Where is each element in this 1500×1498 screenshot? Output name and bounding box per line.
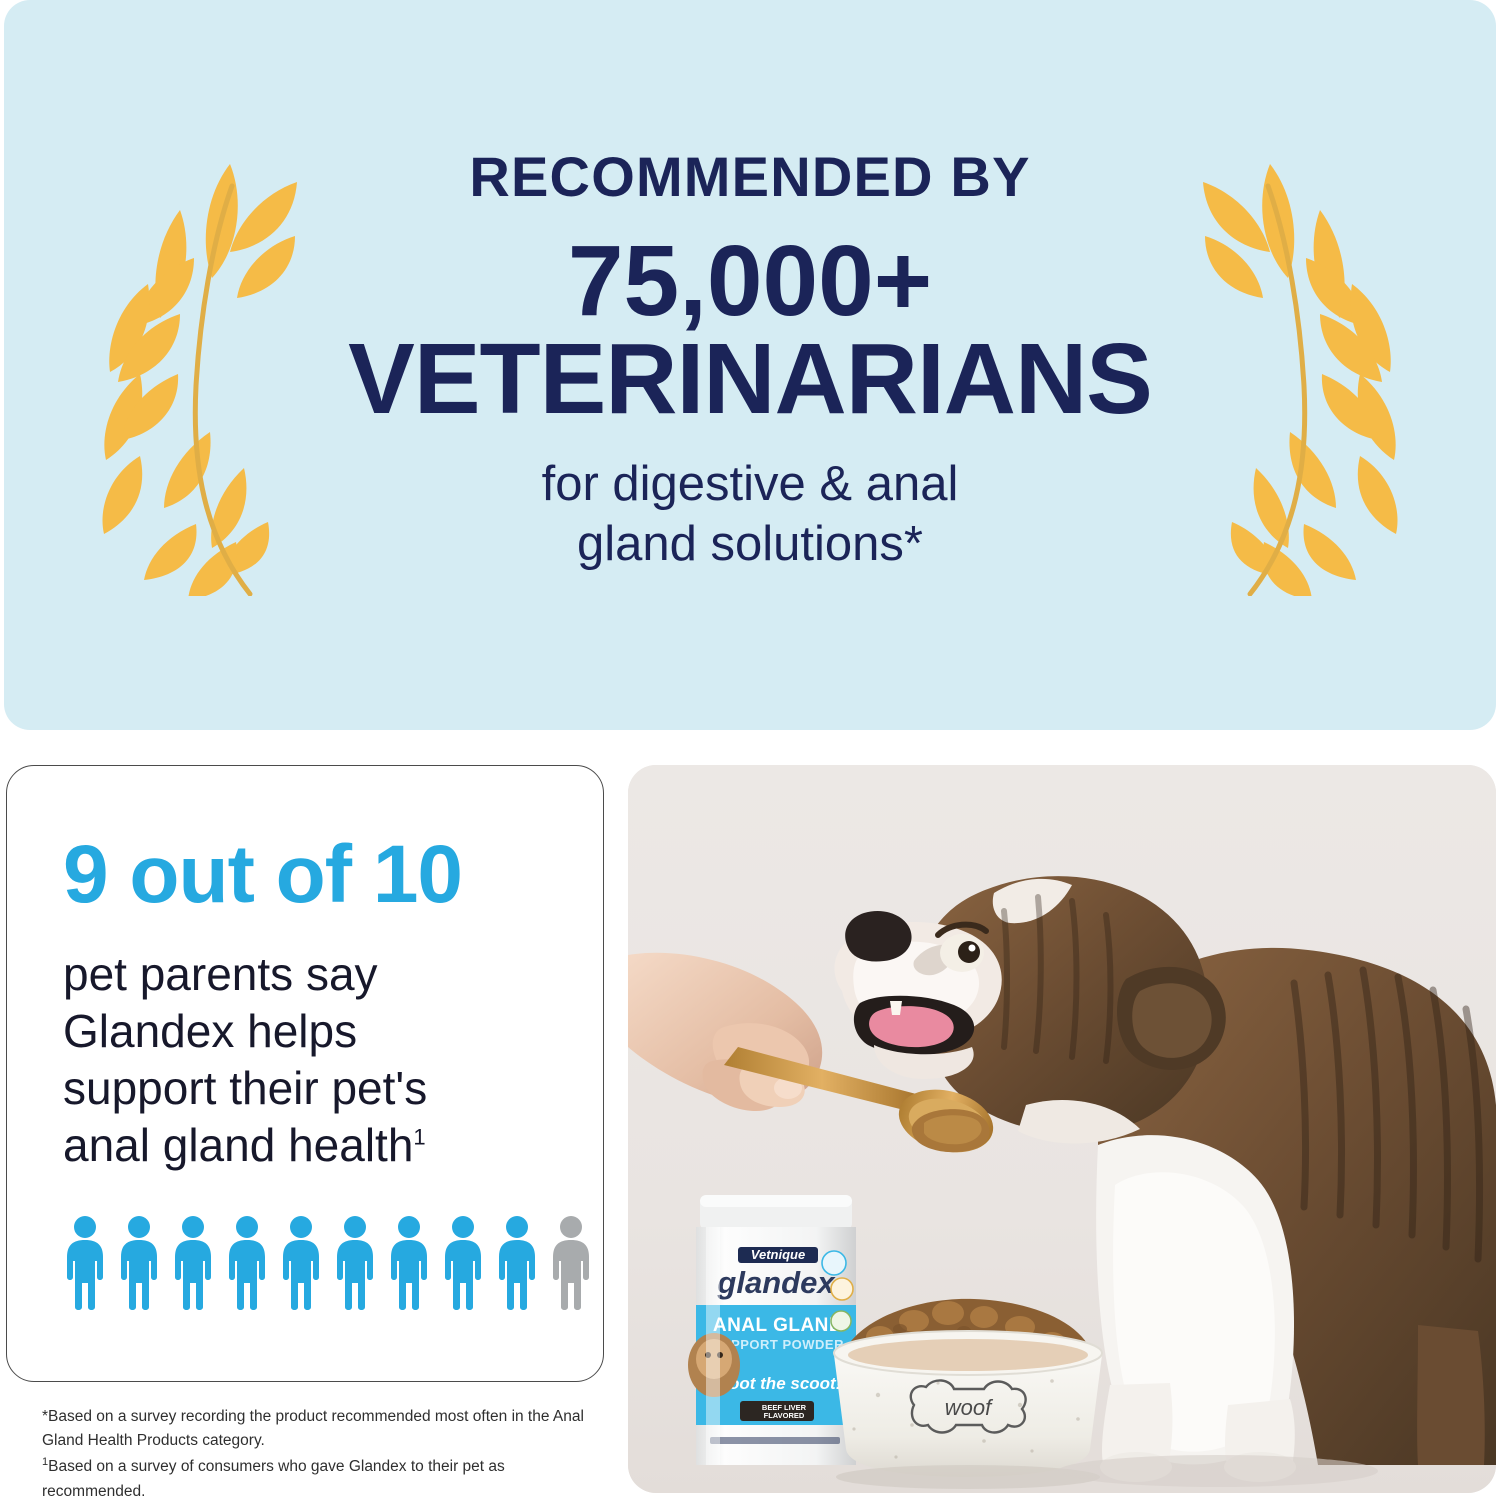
footnote-line2: Gland Health Products category. bbox=[42, 1429, 587, 1453]
stat-headline: 9 out of 10 bbox=[63, 834, 603, 916]
people-pictogram bbox=[63, 1215, 593, 1313]
vet-audience-label: VETERINARIANS bbox=[300, 329, 1200, 429]
person-icon bbox=[279, 1215, 323, 1313]
footnote-line1: *Based on a survey recording the product… bbox=[42, 1405, 587, 1429]
svg-text:Vetnique: Vetnique bbox=[751, 1247, 805, 1262]
banner-headline-block: RECOMMENDED BY 75,000+ VETERINARIANS for… bbox=[300, 148, 1200, 575]
person-icon bbox=[441, 1215, 485, 1313]
banner-subtitle-line2: gland solutions* bbox=[300, 515, 1200, 575]
laurel-wreath-left-icon bbox=[100, 146, 300, 601]
person-icon bbox=[171, 1215, 215, 1313]
stat-footnote-marker: 1 bbox=[413, 1125, 425, 1150]
footnote-line3-wrap: 1Based on a survey of consumers who gave… bbox=[42, 1454, 587, 1498]
glandex-bottle: Vetnique glandex ANAL GLAND SUPPORT POWD… bbox=[688, 1195, 856, 1465]
product-photo-card: Vetnique glandex ANAL GLAND SUPPORT POWD… bbox=[628, 765, 1496, 1493]
stat-body-line4: anal gland health bbox=[63, 1119, 413, 1171]
stat-body-text: pet parents say Glandex helps support th… bbox=[63, 946, 563, 1174]
vet-count: 75,000+ bbox=[300, 229, 1200, 333]
person-icon-muted bbox=[549, 1215, 593, 1313]
person-icon bbox=[117, 1215, 161, 1313]
footnote-line3: Based on a survey of consumers who gave … bbox=[42, 1458, 505, 1498]
marketing-infographic: RECOMMENDED BY 75,000+ VETERINARIANS for… bbox=[0, 0, 1500, 1498]
svg-text:glandex: glandex bbox=[716, 1265, 836, 1300]
stat-body-line3: support their pet's bbox=[63, 1060, 563, 1117]
recommended-banner: RECOMMENDED BY 75,000+ VETERINARIANS for… bbox=[4, 0, 1496, 730]
person-icon bbox=[225, 1215, 269, 1313]
person-icon bbox=[333, 1215, 377, 1313]
svg-text:FLAVORED: FLAVORED bbox=[764, 1411, 805, 1420]
banner-subtitle: for digestive & anal gland solutions* bbox=[300, 455, 1200, 575]
stat-body-line4-wrap: anal gland health1 bbox=[63, 1117, 563, 1174]
stat-body-line2: Glandex helps bbox=[63, 1003, 563, 1060]
person-icon bbox=[387, 1215, 431, 1313]
person-icon bbox=[63, 1215, 107, 1313]
recommended-label: RECOMMENDED BY bbox=[300, 148, 1200, 205]
pet-parents-stat-card: 9 out of 10 pet parents say Glandex help… bbox=[6, 765, 604, 1382]
laurel-wreath-right-icon bbox=[1200, 146, 1400, 601]
stat-body-line1: pet parents say bbox=[63, 946, 563, 1003]
svg-text:ANAL GLAND: ANAL GLAND bbox=[713, 1315, 843, 1336]
person-icon bbox=[495, 1215, 539, 1313]
banner-subtitle-line1: for digestive & anal bbox=[300, 455, 1200, 515]
dog-food-bowl: woof bbox=[834, 1299, 1102, 1489]
stat-card-content: 9 out of 10 pet parents say Glandex help… bbox=[7, 766, 603, 1174]
svg-text:woof: woof bbox=[945, 1395, 994, 1420]
footnotes: *Based on a survey recording the product… bbox=[42, 1405, 587, 1498]
